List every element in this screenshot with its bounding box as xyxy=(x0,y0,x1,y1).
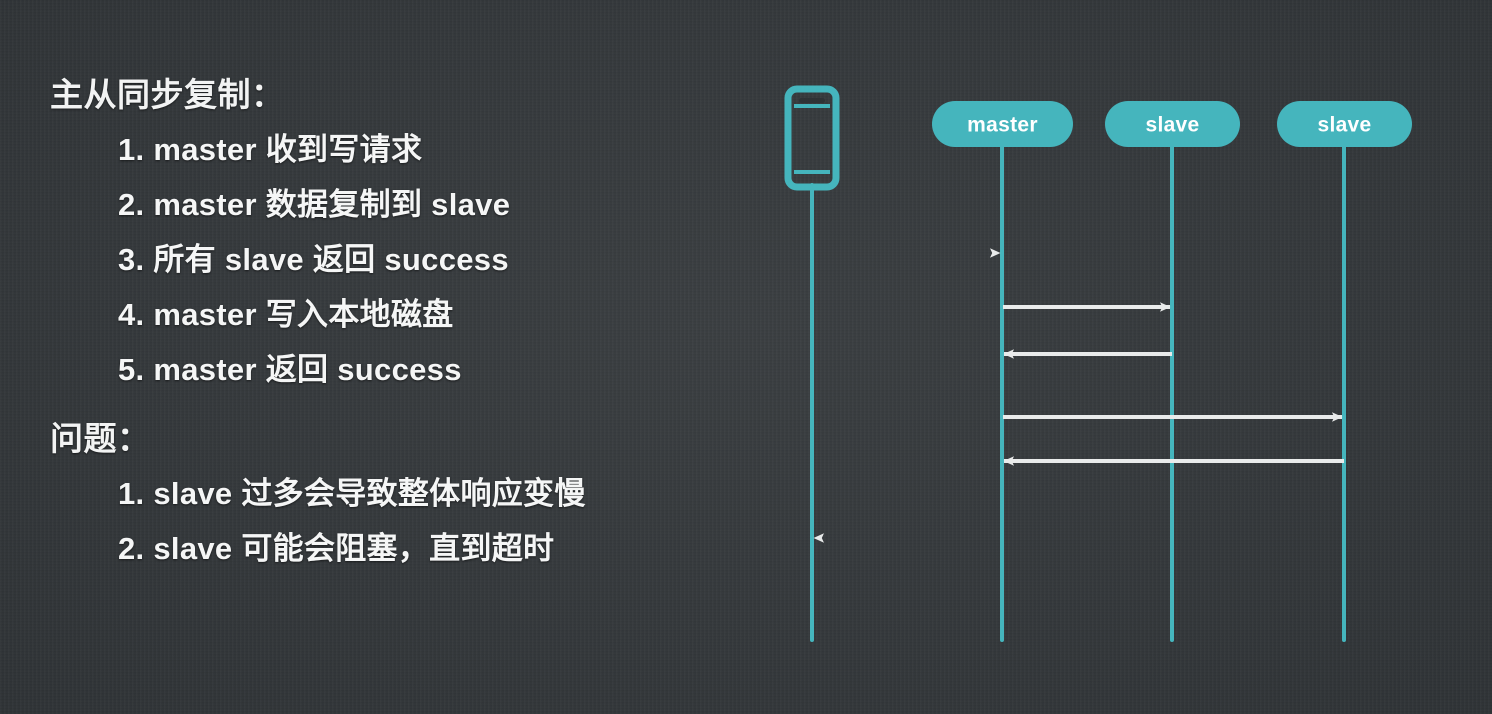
list-item: 5. master 返回 success xyxy=(118,342,510,397)
list-item: 1. slave 过多会导致整体响应变慢 xyxy=(118,466,586,521)
actor-label-master: master xyxy=(967,114,1038,137)
issues-list: 1. slave 过多会导致整体响应变慢 2. slave 可能会阻塞，直到超时 xyxy=(118,466,586,576)
lifelines xyxy=(812,146,1344,640)
actor-label-slave-1: slave xyxy=(1145,114,1199,137)
issues-heading: 问题： xyxy=(50,412,151,460)
messages xyxy=(812,253,1344,538)
list-item: 1. master 收到写请求 xyxy=(118,122,510,177)
sequence-diagram: master slave slave xyxy=(760,0,1492,714)
mobile-phone-icon xyxy=(788,89,836,187)
actor-label-slave-2: slave xyxy=(1317,114,1371,137)
list-item: 2. slave 可能会阻塞，直到超时 xyxy=(118,521,586,576)
flow-heading: 主从同步复制： xyxy=(50,68,285,116)
list-item: 2. master 数据复制到 slave xyxy=(118,177,510,232)
actor-box-slave-2[interactable]: slave xyxy=(1277,101,1412,147)
list-item: 3. 所有 slave 返回 success xyxy=(118,232,510,287)
flow-list: 1. master 收到写请求 2. master 数据复制到 slave 3.… xyxy=(118,122,510,397)
actor-box-master[interactable]: master xyxy=(932,101,1073,147)
text-panel: 主从同步复制： 1. master 收到写请求 2. master 数据复制到 … xyxy=(0,0,760,714)
actor-box-slave-1[interactable]: slave xyxy=(1105,101,1240,147)
list-item: 4. master 写入本地磁盘 xyxy=(118,287,510,342)
slide-canvas: 主从同步复制： 1. master 收到写请求 2. master 数据复制到 … xyxy=(0,0,1492,714)
